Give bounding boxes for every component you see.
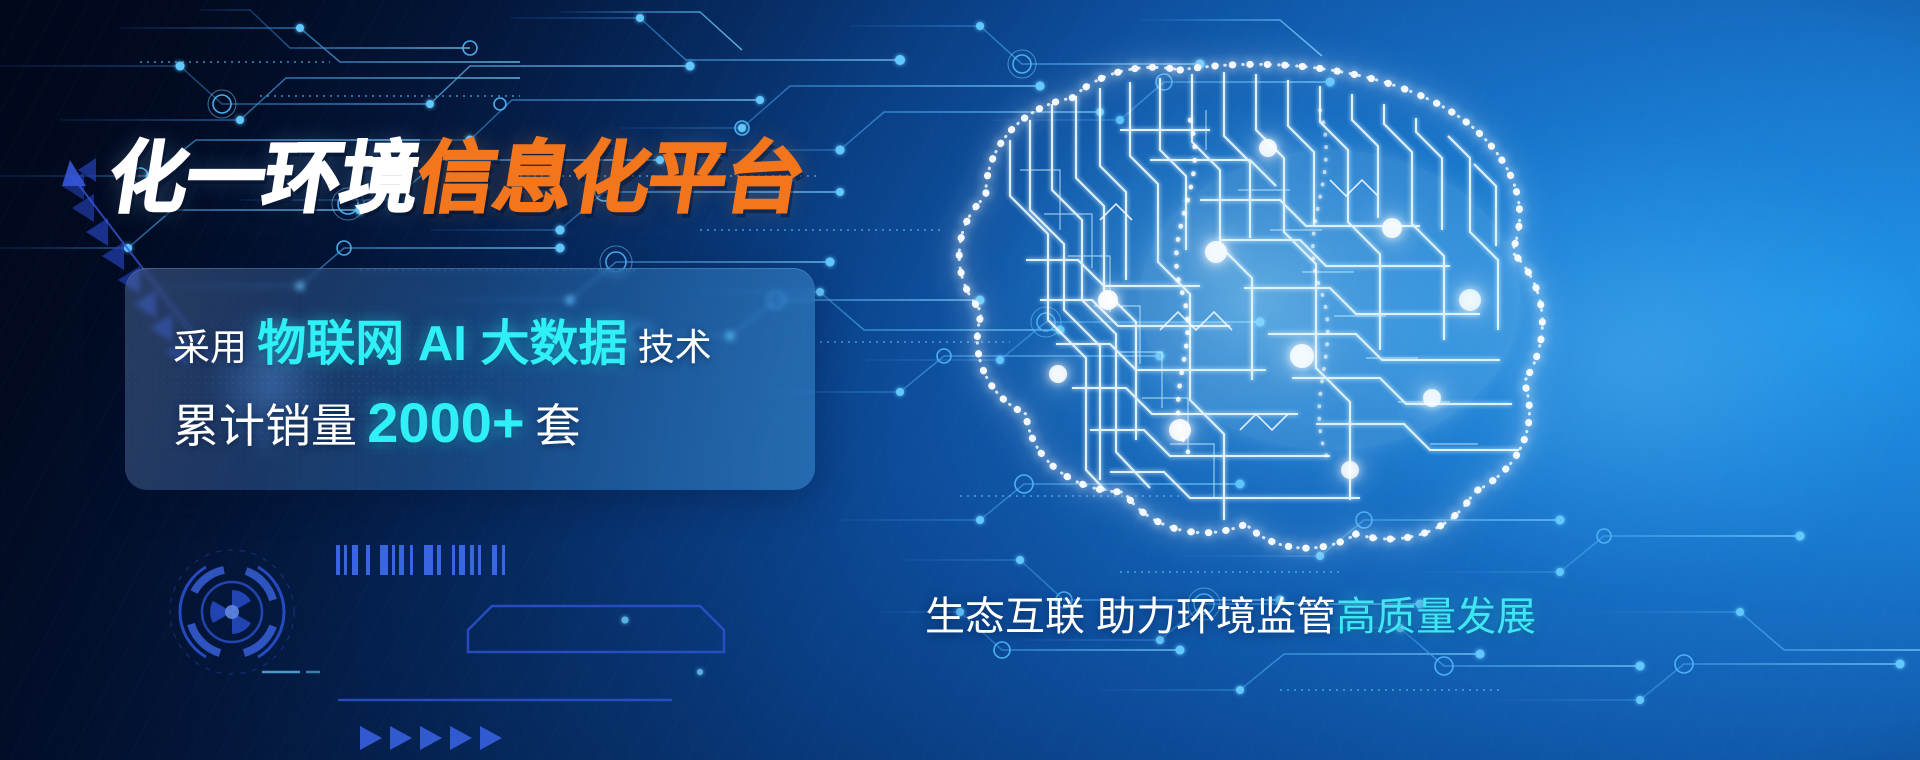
feature-line2-highlight: 2000+ — [367, 391, 524, 454]
hero-banner: 化一环境信息化平台 采用 物联网 AI 大数据 技术 累计销量 2000+ 套 … — [0, 0, 1920, 760]
feature-line1-suffix: 技术 — [638, 327, 712, 368]
feature-panel: 采用 物联网 AI 大数据 技术 累计销量 2000+ 套 — [125, 268, 815, 490]
panel-dot-texture — [125, 268, 815, 490]
feature-line-technology: 采用 物联网 AI 大数据 技术 — [173, 304, 712, 375]
feature-line-sales: 累计销量 2000+ 套 — [173, 390, 581, 456]
feature-line2-prefix: 累计销量 — [173, 400, 357, 452]
tagline-cyan: 高质量发展 — [1336, 595, 1536, 639]
tagline-white: 生态互联 助力环境监管 — [925, 595, 1336, 639]
page-title-orange: 信息化平台 — [411, 134, 810, 224]
feature-line1-highlight: 物联网 AI 大数据 — [257, 317, 627, 371]
feature-line2-suffix: 套 — [535, 400, 581, 452]
feature-line1-prefix: 采用 — [173, 327, 247, 368]
tagline: 生态互联 助力环境监管高质量发展 — [925, 584, 1536, 642]
page-title: 化一环境信息化平台 — [110, 140, 803, 218]
page-title-white: 化一环境 — [103, 134, 425, 224]
